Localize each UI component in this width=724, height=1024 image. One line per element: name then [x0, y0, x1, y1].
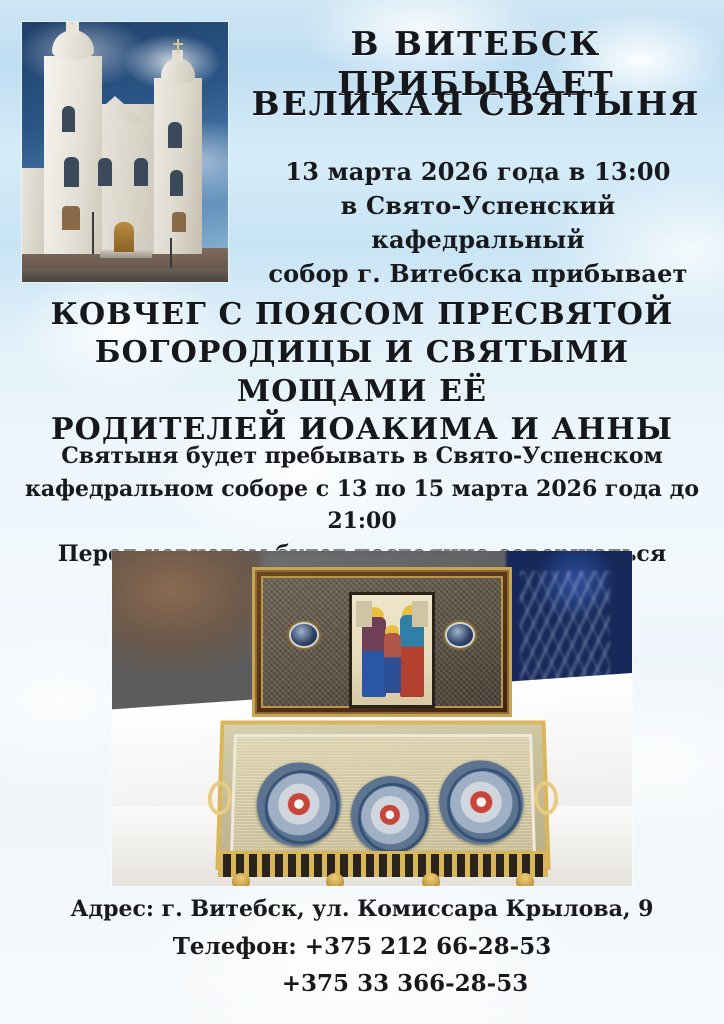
arrival-info: 13 марта 2026 года в 13:00 в Свято-Успен…	[236, 155, 720, 291]
lamp-post	[92, 212, 94, 254]
address-line: Адрес: г. Витебск, ул. Комиссара Крылова…	[30, 898, 694, 920]
tower-window	[170, 170, 183, 196]
cathedral-door	[114, 222, 134, 252]
relic-medallion-right	[439, 760, 525, 844]
figure-joachim	[400, 615, 424, 697]
casket-foot	[516, 873, 534, 886]
figure-anna	[362, 617, 386, 697]
lamp-post	[170, 238, 172, 268]
casket-ornamental-base	[218, 851, 548, 877]
arrival-line-2: в Свято-Успенский кафедральный	[236, 189, 720, 257]
medallion-center	[288, 793, 310, 815]
reliquary-ark-photo	[112, 551, 632, 886]
lid-medallion-left	[291, 624, 317, 646]
headline-line-2: ВЕЛИКАЯ СВЯТЫНЯ	[228, 84, 724, 124]
photo-road	[22, 268, 228, 282]
icon-architecture-left	[356, 601, 372, 627]
tower-window	[62, 106, 75, 132]
lid-inner-panel	[261, 576, 503, 708]
icon-architecture-right	[412, 601, 428, 627]
left-tower-cross-icon	[71, 22, 73, 24]
details-line-1: Святыня будет пребывать в Свято-Успенско…	[20, 440, 704, 473]
poster-canvas: В ВИТЕБСК ПРИБЫВАЕТ ВЕЛИКАЯ СВЯТЫНЯ 13 м…	[0, 0, 724, 1024]
facade-icon	[172, 212, 186, 232]
facade-icon	[62, 206, 80, 230]
nave-window	[98, 158, 112, 186]
relic-title-line-2: БОГОРОДИЦЫ И СВЯТЫМИ МОЩАМИ ЕЁ	[8, 334, 716, 411]
casket-lid	[252, 567, 512, 717]
casket-base	[215, 721, 550, 870]
tower-window	[168, 122, 182, 148]
phone-secondary: +375 33 366-28-53	[30, 972, 694, 995]
nave-window	[134, 158, 148, 186]
casket-handle-left	[207, 781, 232, 815]
casket-handle-right	[534, 781, 559, 815]
casket-foot	[422, 873, 440, 886]
assumption-cathedral-photo	[22, 22, 228, 282]
relic-medallion-left	[256, 762, 342, 846]
phone-primary: Телефон: +375 212 66-28-53	[30, 935, 694, 958]
lid-medallion-right	[447, 624, 473, 646]
joachim-anna-icon	[349, 592, 435, 708]
right-tower-cross-icon	[177, 39, 179, 53]
arrival-line-3: собор г. Витебска прибывает	[236, 257, 720, 291]
casket-glass-cover	[230, 734, 536, 855]
relic-title-line-1: КОВЧЕГ С ПОЯСОМ ПРЕСВЯТОЙ	[8, 296, 716, 334]
figure-young-mary	[384, 633, 401, 693]
relic-title: КОВЧЕГ С ПОЯСОМ ПРЕСВЯТОЙ БОГОРОДИЦЫ И С…	[8, 296, 716, 450]
casket-foot	[232, 873, 250, 886]
details-line-2: кафедральном соборе с 13 по 15 марта 202…	[20, 473, 704, 538]
tower-window	[64, 157, 79, 187]
medallion-center	[470, 791, 492, 813]
arrival-line-1: 13 марта 2026 года в 13:00	[236, 155, 720, 189]
relic-medallion-center	[351, 776, 430, 854]
casket-foot	[326, 873, 344, 886]
